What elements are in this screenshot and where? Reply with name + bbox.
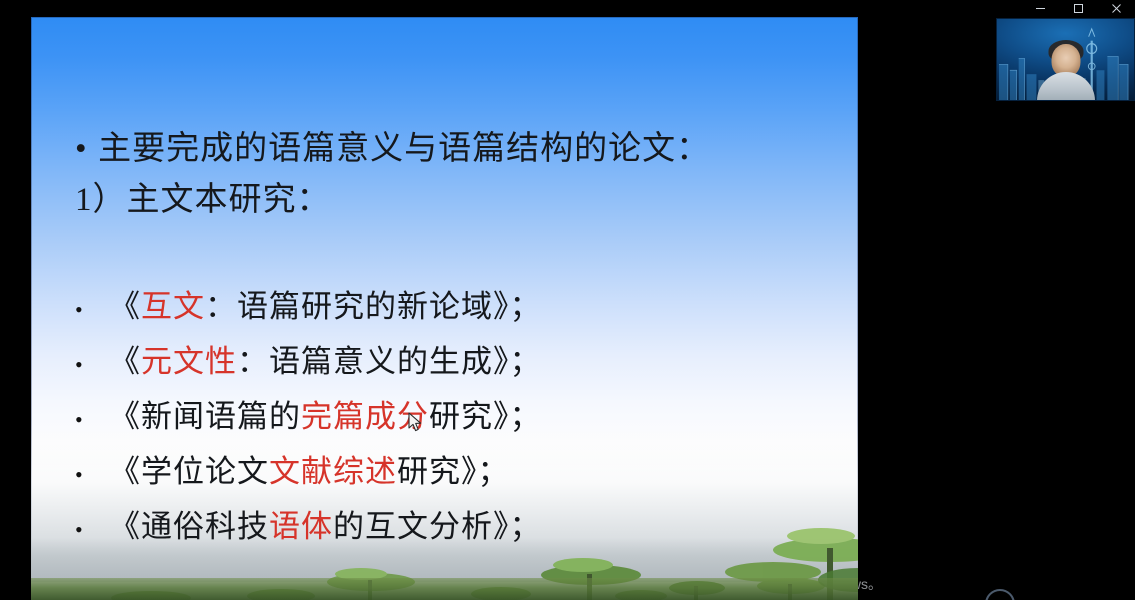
highlighted-term: 完篇成分 <box>301 399 429 434</box>
plain-text-run: 《学位论文 <box>109 454 269 489</box>
close-button[interactable] <box>1097 0 1135 17</box>
highlighted-term: 元文性 <box>141 344 237 379</box>
bullet-item-text: 《互文：语篇研究的新论域》； <box>109 279 542 334</box>
bullet-item-text: 《新闻语篇的完篇成分研究》； <box>109 389 542 444</box>
bullet-dot-icon: • <box>75 409 109 431</box>
restore-button[interactable] <box>1059 0 1097 17</box>
taskbar-circle-icon <box>985 589 1015 600</box>
bullet-dot-icon: • <box>75 354 109 376</box>
headline-bullet-icon: • <box>75 131 89 168</box>
slide-headline: • 主要完成的语篇意义与语篇结构的论文： <box>75 121 710 169</box>
slide-bullet-item: •《元文性：语篇意义的生成》； <box>75 334 542 389</box>
slide-bullet-list: •《互文：语篇研究的新论域》；•《元文性：语篇意义的生成》；•《新闻语篇的完篇成… <box>75 279 542 554</box>
plain-text-run: ：语篇意义的生成》； <box>237 344 542 379</box>
bullet-item-text: 《元文性：语篇意义的生成》； <box>109 334 542 389</box>
bullet-dot-icon: • <box>75 464 109 486</box>
presenter-figure <box>1036 42 1096 101</box>
presenter-video-tile[interactable] <box>996 18 1135 101</box>
slide-bullet-item: •《新闻语篇的完篇成分研究》； <box>75 389 542 444</box>
bullet-dot-icon: • <box>75 299 109 321</box>
highlighted-term: 互文 <box>141 289 205 324</box>
plain-text-run: 《通俗科技 <box>109 509 269 544</box>
plain-text-run: 研究》； <box>397 454 510 489</box>
highlighted-term: 语体 <box>269 509 333 544</box>
bullet-dot-icon: • <box>75 519 109 541</box>
subheadline-text: 1）主文本研究： <box>75 182 331 218</box>
plain-text-run: 的互文分析》； <box>333 509 542 544</box>
plain-text-run: 《 <box>109 289 141 324</box>
plain-text-run: ：语篇研究的新论域》； <box>205 289 542 324</box>
bullet-item-text: 《学位论文文献综述研究》； <box>109 444 510 499</box>
slide-ground-strip <box>31 578 858 600</box>
slide-bullet-item: •《学位论文文献综述研究》； <box>75 444 542 499</box>
slide-subheadline: 1）主文本研究： <box>75 172 331 220</box>
bullet-item-text: 《通俗科技语体的互文分析》； <box>109 499 542 554</box>
window-titlebar <box>0 0 1135 17</box>
window-controls <box>1021 0 1135 17</box>
slide-bullet-item: •《互文：语篇研究的新论域》； <box>75 279 542 334</box>
plain-text-run: 研究》； <box>429 399 542 434</box>
presentation-slide: • 主要完成的语篇意义与语篇结构的论文： 1）主文本研究： •《互文：语篇研究的… <box>31 17 858 600</box>
plain-text-run: 《新闻语篇的 <box>109 399 301 434</box>
headline-text: 主要完成的语篇意义与语篇结构的论文： <box>98 131 710 167</box>
screen-root: 激活 Windows 转到“设置”以激活 Windows。 <box>0 0 1135 600</box>
slide-bullet-item: •《通俗科技语体的互文分析》； <box>75 499 542 554</box>
minimize-button[interactable] <box>1021 0 1059 17</box>
highlighted-term: 文献综述 <box>269 454 397 489</box>
plain-text-run: 《 <box>109 344 141 379</box>
presenter-torso <box>1037 72 1095 101</box>
